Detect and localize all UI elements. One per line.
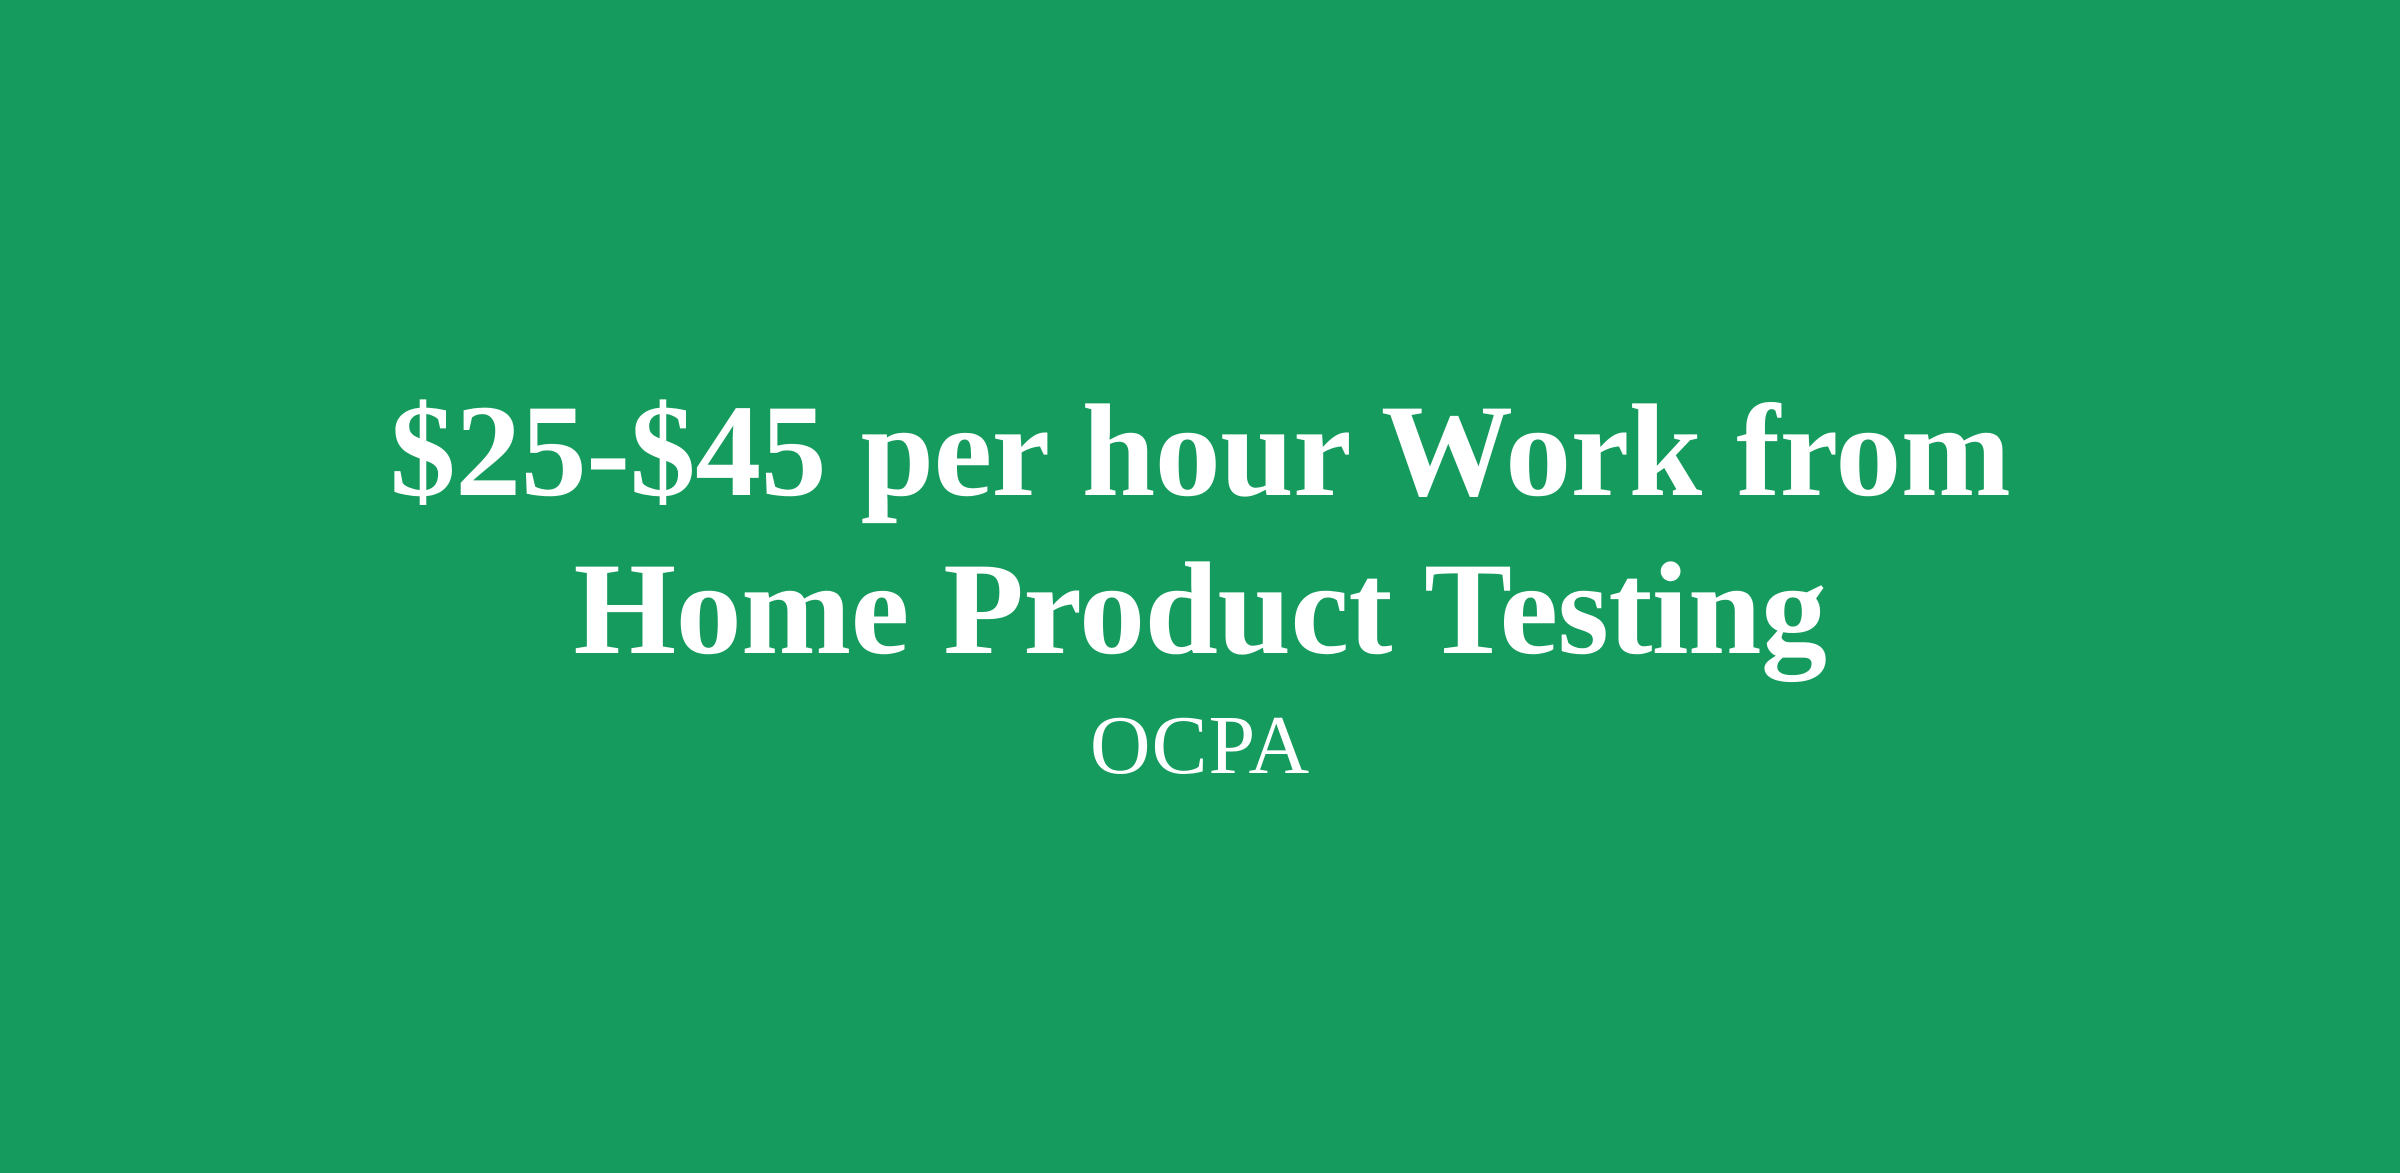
page-subtitle: OCPA	[1090, 700, 1310, 792]
card-text-block: $25-$45 per hour Work from Home Product …	[0, 372, 2400, 792]
page-title: $25-$45 per hour Work from Home Product …	[320, 372, 2080, 688]
share-card: $25-$45 per hour Work from Home Product …	[0, 0, 2400, 1173]
page-title-line-2: Home Product Testing	[320, 530, 2080, 688]
page-title-line-1: $25-$45 per hour Work from	[320, 372, 2080, 530]
